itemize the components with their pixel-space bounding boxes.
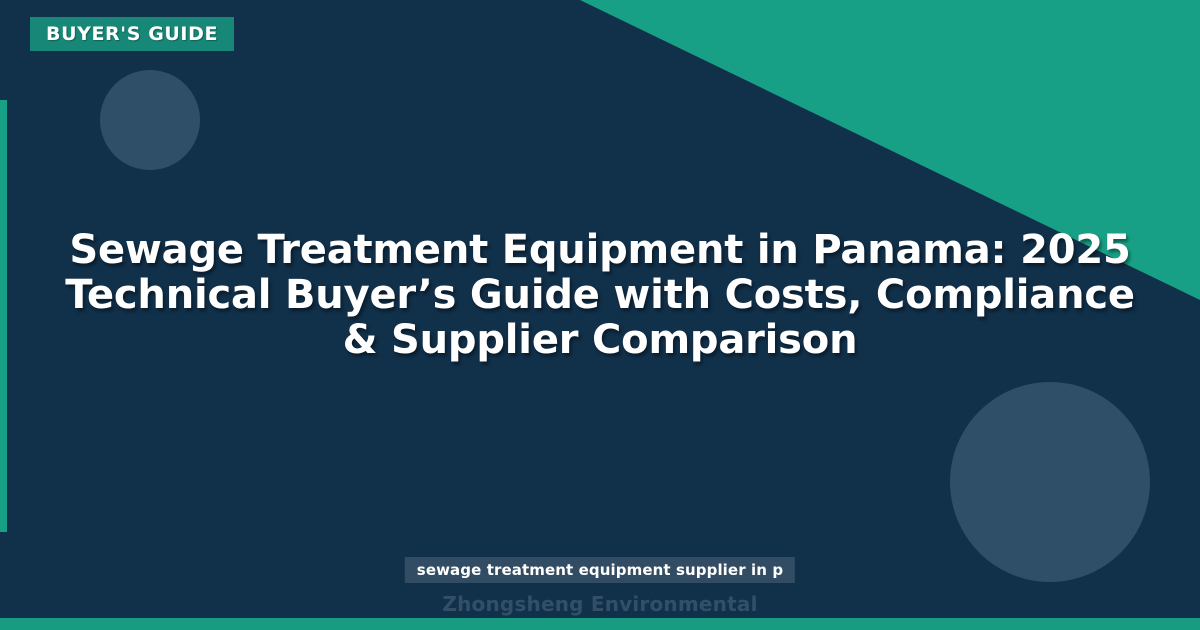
category-badge: BUYER'S GUIDE xyxy=(30,17,234,51)
brand-watermark: Zhongsheng Environmental xyxy=(0,592,1200,616)
social-share-banner: BUYER'S GUIDE Sewage Treatment Equipment… xyxy=(0,0,1200,630)
keyword-pill-label: sewage treatment equipment supplier in p xyxy=(417,561,783,579)
decorative-circle-bottom-right xyxy=(950,382,1150,582)
title-block: Sewage Treatment Equipment in Panama: 20… xyxy=(60,228,1140,364)
page-title: Sewage Treatment Equipment in Panama: 20… xyxy=(60,228,1140,364)
left-accent-stripe xyxy=(0,100,7,532)
keyword-pill: sewage treatment equipment supplier in p xyxy=(405,557,795,583)
bottom-accent-bar xyxy=(0,618,1200,630)
decorative-circle-top-left xyxy=(100,70,200,170)
category-badge-label: BUYER'S GUIDE xyxy=(46,23,218,45)
